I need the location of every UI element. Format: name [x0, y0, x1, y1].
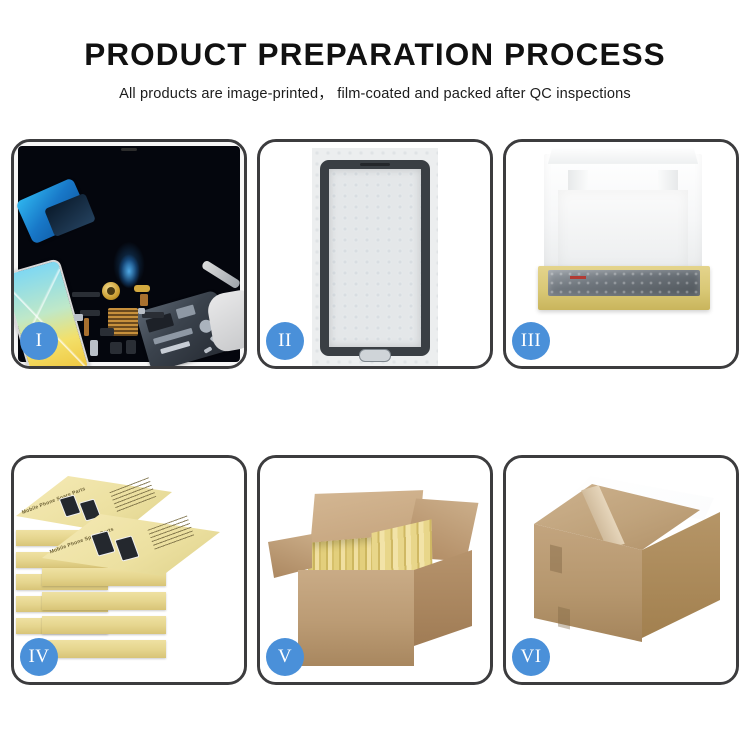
step-panel-2[interactable]: II — [257, 139, 493, 369]
step-badge-6: VI — [512, 638, 550, 676]
page-subtitle: All products are image-printed， film-coa… — [0, 71, 750, 103]
step-panel-3[interactable]: III — [503, 139, 739, 369]
white-foam-lid-icon — [544, 154, 702, 274]
carton-seam-icon — [550, 545, 562, 574]
step-badge-2: II — [266, 322, 304, 360]
kraft-box-base-icon — [538, 266, 710, 310]
step-badge-5: V — [266, 638, 304, 676]
step-panel-5[interactable]: V — [257, 455, 493, 685]
gold-coil-part-icon — [102, 282, 120, 300]
small-part-icon — [142, 312, 164, 318]
home-button-icon — [359, 349, 391, 362]
step-badge-3: III — [512, 322, 550, 360]
small-part-icon — [126, 340, 136, 354]
small-part-icon — [110, 342, 122, 354]
step-panel-1[interactable]: I — [11, 139, 247, 369]
small-part-icon — [138, 308, 145, 314]
step-panel-4[interactable]: Mobile Phone Spare Parts Mobile Phone Sp… — [11, 455, 247, 685]
step-panel-6[interactable]: VI — [503, 455, 739, 685]
small-part-icon — [74, 314, 83, 321]
bubble-wrap-icon — [312, 148, 438, 366]
header: PRODUCT PREPARATION PROCESS All products… — [0, 0, 750, 103]
small-part-icon — [80, 310, 100, 316]
step-badge-4: IV — [20, 638, 58, 676]
carton-front-panel-icon — [298, 570, 414, 666]
steps-grid: I II — [11, 139, 739, 685]
carton-seam-icon — [558, 607, 570, 630]
product-preparation-infographic: PRODUCT PREPARATION PROCESS All products… — [0, 0, 750, 750]
small-part-icon — [72, 292, 100, 297]
small-part-icon — [84, 318, 89, 336]
wrapped-screen-icon — [320, 160, 430, 356]
small-part-icon — [134, 285, 150, 292]
step-badge-1: I — [20, 322, 58, 360]
wrapped-screen-in-box-icon — [548, 270, 700, 296]
small-part-icon — [140, 294, 148, 306]
page-title: PRODUCT PREPARATION PROCESS — [0, 0, 750, 71]
small-part-icon — [100, 328, 114, 336]
small-part-icon — [90, 340, 98, 356]
